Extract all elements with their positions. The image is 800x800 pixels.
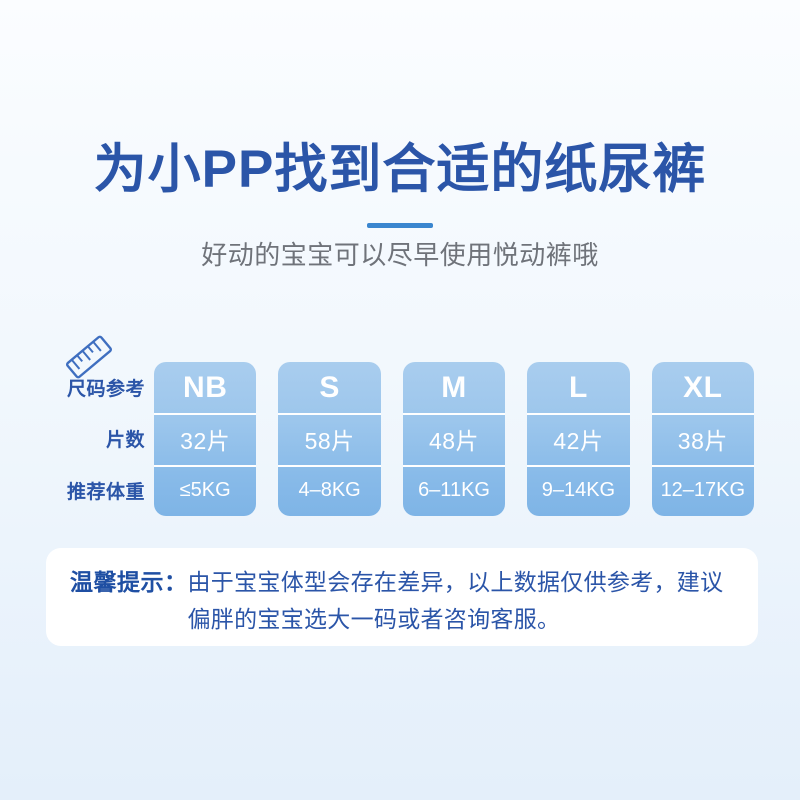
row-label-size: 尺码参考 [46,362,145,413]
page-title: 为小PP找到合适的纸尿裤 [0,140,800,199]
cell-size-m: M [403,362,505,413]
cell-weight-s: 4–8KG [278,465,380,516]
cell-weight-m: 6–11KG [403,465,505,516]
title-divider-wrap [0,215,800,221]
cell-weight-xl: 12–17KG [652,465,754,516]
cell-size-xl: XL [652,362,754,413]
cell-size-nb: NB [154,362,256,413]
page-subtitle: 好动的宝宝可以尽早使用悦动裤哦 [0,240,800,271]
header: 为小PP找到合适的纸尿裤 好动的宝宝可以尽早使用悦动裤哦 [0,140,800,272]
title-divider [367,223,433,228]
tip-box: 温馨提示： 由于宝宝体型会存在差异，以上数据仅供参考，建议偏胖的宝宝选大一码或者… [46,548,758,646]
tip-inner: 温馨提示： 由于宝宝体型会存在差异，以上数据仅供参考，建议偏胖的宝宝选大一码或者… [70,564,732,639]
tip-label: 温馨提示： [70,564,188,601]
cell-weight-l: 9–14KG [527,465,629,516]
size-column-xl[interactable]: XL 38片 12–17KG [652,362,754,516]
size-guide-page: 为小PP找到合适的纸尿裤 好动的宝宝可以尽早使用悦动裤哦 尺码参考 片数 推荐体… [0,0,800,800]
cell-count-xl: 38片 [652,413,754,464]
cell-size-l: L [527,362,629,413]
row-label-count: 片数 [46,413,145,464]
cell-count-nb: 32片 [154,413,256,464]
size-table-row-labels: 尺码参考 片数 推荐体重 [46,362,154,516]
size-column-nb[interactable]: NB 32片 ≤5KG [154,362,256,516]
cell-weight-nb: ≤5KG [154,465,256,516]
cell-count-s: 58片 [278,413,380,464]
tip-text: 由于宝宝体型会存在差异，以上数据仅供参考，建议偏胖的宝宝选大一码或者咨询客服。 [188,564,733,639]
row-label-weight: 推荐体重 [46,465,145,516]
size-table-columns: NB 32片 ≤5KG S 58片 4–8KG M 48片 6–11KG L 4… [154,362,754,516]
size-column-m[interactable]: M 48片 6–11KG [403,362,505,516]
size-column-s[interactable]: S 58片 4–8KG [278,362,380,516]
cell-count-l: 42片 [527,413,629,464]
size-table: 尺码参考 片数 推荐体重 NB 32片 ≤5KG S 58片 4–8KG M 4… [46,362,754,516]
size-column-l[interactable]: L 42片 9–14KG [527,362,629,516]
cell-size-s: S [278,362,380,413]
cell-count-m: 48片 [403,413,505,464]
